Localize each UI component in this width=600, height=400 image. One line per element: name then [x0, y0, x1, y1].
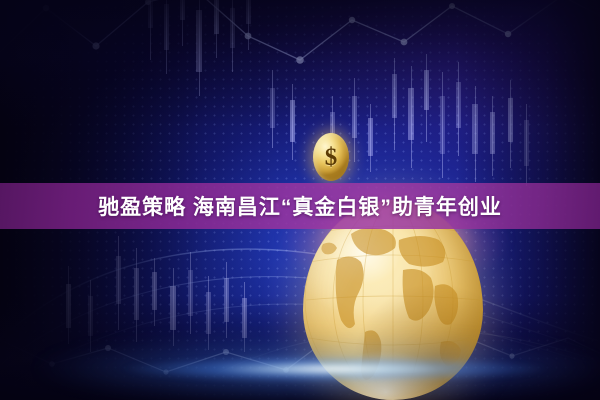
candle-body [180, 0, 185, 20]
candle-body [456, 82, 461, 128]
candle-wick [166, 0, 167, 74]
candle-body [66, 284, 71, 328]
candle-wick [442, 72, 443, 178]
beam-glow-core [120, 356, 550, 382]
candle-body [188, 270, 193, 316]
candle-wick [292, 84, 293, 160]
candle-body [152, 272, 157, 310]
candle-wick [411, 66, 412, 168]
candle-body [134, 268, 139, 320]
candle-body [472, 104, 478, 154]
candle-body [170, 286, 176, 330]
candle-body [116, 256, 121, 304]
candle-body [196, 10, 202, 72]
candle-wick [154, 258, 155, 326]
candle-wick [232, 0, 233, 72]
candle-body [524, 120, 529, 166]
candle-body [206, 292, 211, 334]
candle-body [214, 0, 219, 34]
candle-body [246, 0, 251, 24]
candle-body [148, 0, 153, 28]
candle-body [270, 88, 275, 128]
candle-wick [370, 104, 371, 172]
candle-body [88, 296, 93, 336]
candle-wick [492, 96, 493, 176]
promo-banner-image: $ 驰盈策略 海南昌江“真金白银”助青年创业 [0, 0, 600, 400]
candle-wick [173, 268, 174, 346]
candle-wick [68, 266, 69, 344]
candle-wick [226, 262, 227, 338]
candle-wick [426, 54, 427, 142]
candle-body [392, 74, 397, 118]
candle-wick [272, 70, 273, 148]
candle-body [230, 8, 235, 48]
candle-body [424, 70, 429, 110]
dollar-sign-icon: $ [325, 145, 338, 170]
candle-body [508, 98, 513, 142]
candle-wick [394, 58, 395, 150]
candle-wick [510, 80, 511, 168]
candle-wick [216, 0, 217, 58]
candle-wick [458, 62, 459, 156]
candle-body [352, 96, 357, 138]
candle-wick [150, 0, 151, 60]
candle-body [290, 100, 295, 142]
upper-node-polyline [0, 0, 600, 64]
headline-text: 驰盈策略 海南昌江“真金白银”助青年创业 [0, 183, 600, 229]
candle-wick [526, 104, 527, 186]
candle-body [242, 298, 247, 338]
candle-body [164, 4, 169, 50]
candle-wick [199, 0, 200, 96]
candle-wick [354, 78, 355, 162]
candle-body [490, 112, 495, 154]
candle-wick [136, 248, 137, 342]
candle-body [368, 118, 373, 156]
candle-wick [475, 86, 476, 182]
candle-body [224, 278, 229, 322]
gold-dollar-coin: $ [313, 133, 349, 181]
candle-body [440, 96, 445, 154]
candle-wick [118, 236, 119, 330]
candle-wick [248, 0, 249, 50]
candle-wick [182, 0, 183, 46]
candle-wick [190, 252, 191, 334]
candle-body [408, 88, 414, 140]
